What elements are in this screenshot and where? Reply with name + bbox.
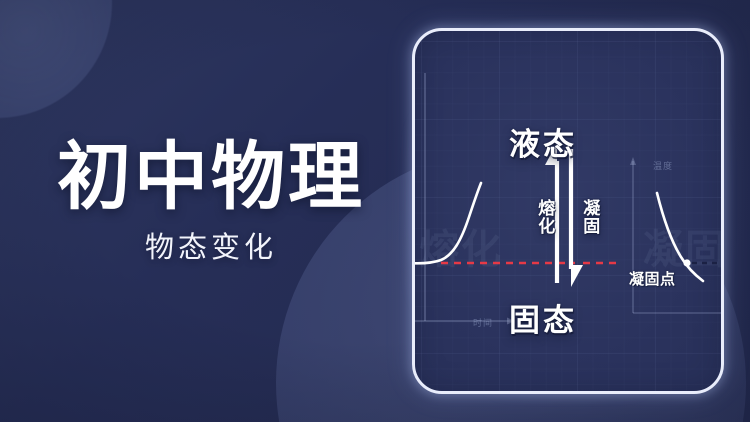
freezing-point-label: 凝固点 — [629, 268, 676, 289]
process-label-solidification: 凝固 — [580, 199, 599, 235]
axis-label-temperature: 温度 — [653, 159, 673, 172]
state-label-solid: 固态 — [509, 295, 577, 340]
process-label-melting: 熔化 — [535, 199, 554, 235]
left-chart-axes — [415, 73, 515, 325]
dot-marker-icon — [683, 259, 690, 266]
right-chart-axes — [630, 157, 721, 313]
diagram-panel: 熔化 凝固 — [412, 28, 724, 394]
axis-label-time: 时间 — [473, 316, 493, 329]
title-block: 初中物理 物态变化 — [26, 140, 396, 263]
page-title: 初中物理 — [26, 140, 396, 214]
page-subtitle: 物态变化 — [26, 234, 396, 263]
poster-canvas: 初中物理 物态变化 熔化 凝固 — [0, 0, 750, 422]
state-label-liquid: 液态 — [509, 119, 577, 164]
diagram-panel-wrapper: 熔化 凝固 — [412, 28, 724, 394]
